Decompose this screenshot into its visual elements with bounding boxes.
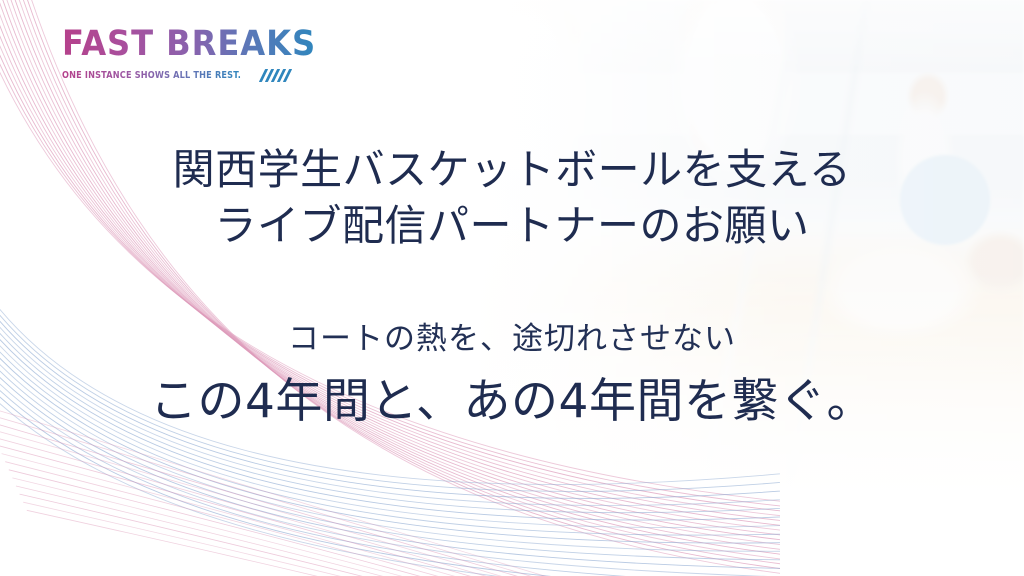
slash-marks-icon [262,69,289,82]
headline-line-1: 関西学生バスケットボールを支える [0,142,1024,198]
logo-tagline-row: ONE INSTANCE SHOWS ALL THE REST. [62,69,338,82]
subhead-line-2: この4年間と、あの4年間を繋ぐ。 [0,362,1024,431]
headline-line-2: ライブ配信パートナーのお願い [0,198,1024,254]
logo-tagline: ONE INSTANCE SHOWS ALL THE REST. [62,70,241,81]
subhead-line-1: コートの熱を、途切れさせない [0,313,1024,358]
brand-logo[interactable]: FAST BREAKS ONE INSTANCE SHOWS ALL THE R… [62,27,338,82]
logo-wordmark: FAST BREAKS [62,27,316,62]
hero-photo [380,0,1024,520]
slide-root: FAST BREAKS ONE INSTANCE SHOWS ALL THE R… [0,0,1024,576]
page-title: 関西学生バスケットボールを支える ライブ配信パートナーのお願い [0,142,1024,254]
